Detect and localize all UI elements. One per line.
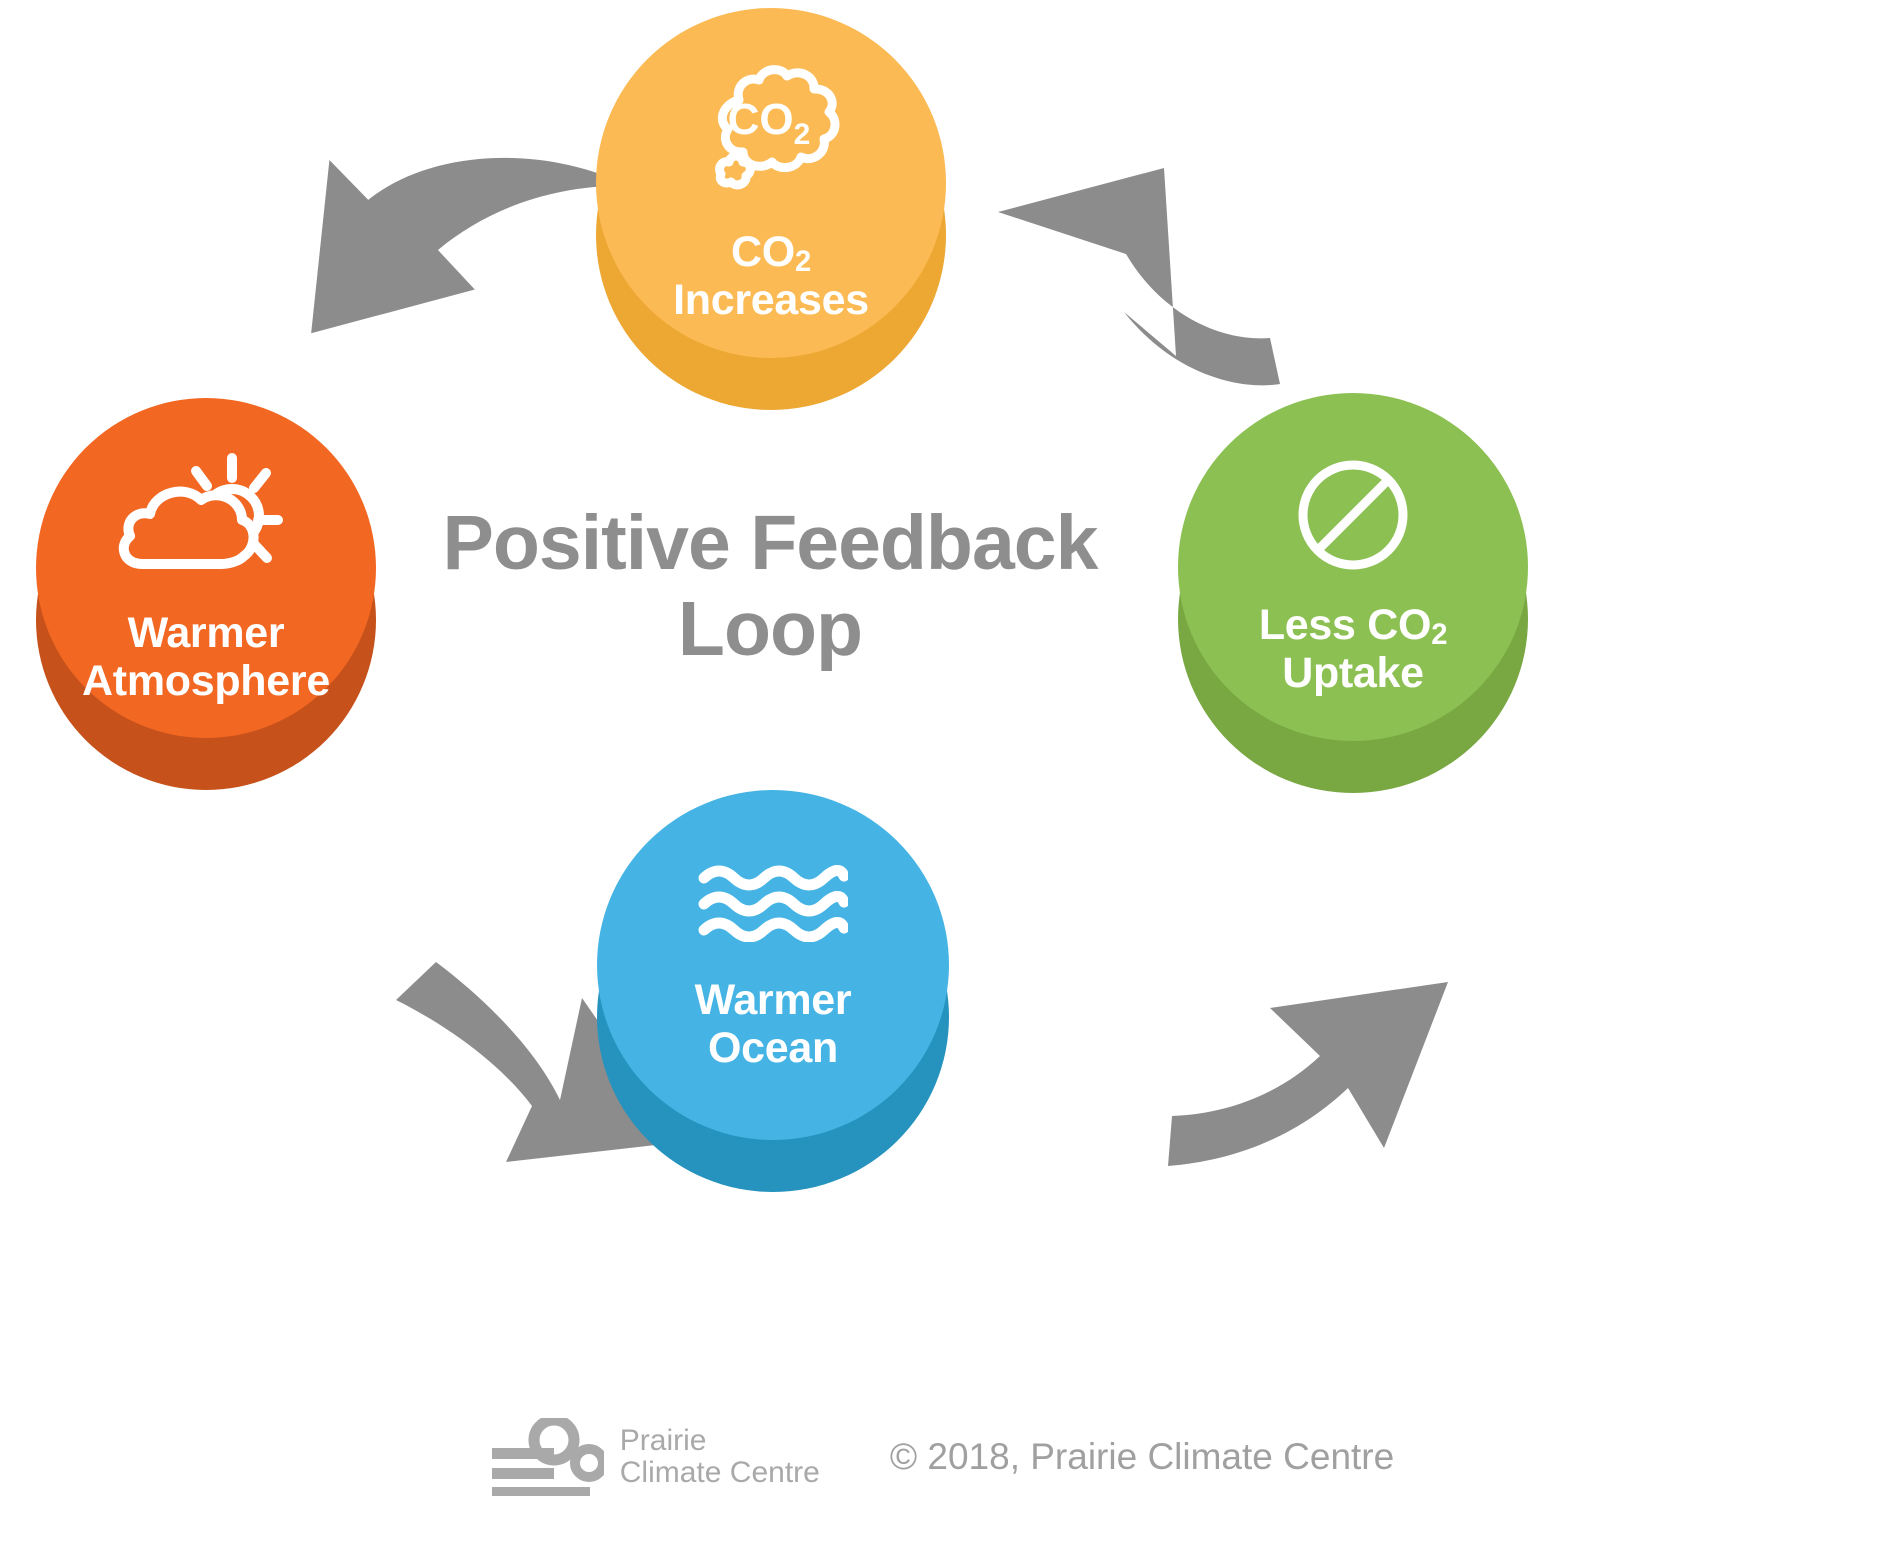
- diagram-title-line2: Loop: [420, 586, 1120, 672]
- co2-cloud-icon: CO2: [681, 52, 861, 212]
- prairie-climate-centre-brand: Prairie Climate Centre: [492, 1418, 820, 1496]
- footer: Prairie Climate Centre © 2018, Prairie C…: [0, 1418, 1886, 1496]
- uptake-label-line2: Uptake: [1259, 649, 1447, 697]
- atmosphere-label-line1: Warmer: [82, 609, 330, 657]
- brand-line2: Climate Centre: [620, 1457, 820, 1489]
- co2-label-line1: CO: [731, 228, 795, 276]
- sun-behind-cloud-icon: [106, 448, 306, 593]
- node-label-less-co2-uptake: Less CO2 Uptake: [1259, 601, 1447, 697]
- co2-coin-face: CO2 CO2 Increases: [596, 8, 946, 358]
- node-label-warmer-atmosphere: Warmer Atmosphere: [82, 609, 330, 705]
- prairie-climate-centre-logo-icon: [492, 1418, 604, 1496]
- arrow-less-uptake-to-co2: [980, 152, 1280, 402]
- atmosphere-coin: Warmer Atmosphere: [36, 398, 376, 790]
- arrow-co2-to-warmer-atmosphere: [286, 140, 616, 390]
- diagram-title: Positive Feedback Loop: [420, 500, 1120, 672]
- node-label-co2-increases: CO2 Increases: [673, 228, 869, 324]
- node-co2-increases[interactable]: CO2 CO2 Increases: [596, 8, 946, 410]
- prohibited-icon: [1293, 455, 1413, 575]
- ocean-coin: Warmer Ocean: [597, 790, 949, 1192]
- node-label-warmer-ocean: Warmer Ocean: [695, 976, 852, 1072]
- node-warmer-ocean[interactable]: Warmer Ocean: [597, 790, 949, 1192]
- uptake-label-line1: Less CO: [1259, 601, 1431, 649]
- uptake-label-sub: 2: [1431, 619, 1447, 651]
- ocean-waves-icon: [698, 862, 848, 942]
- node-less-co2-uptake[interactable]: Less CO2 Uptake: [1178, 393, 1528, 793]
- co2-coin: CO2 CO2 Increases: [596, 8, 946, 410]
- co2-label-line2: Increases: [673, 276, 869, 324]
- brand-text: Prairie Climate Centre: [620, 1425, 820, 1490]
- co2-icon-text: CO2: [728, 95, 811, 151]
- atmosphere-label-line2: Atmosphere: [82, 657, 330, 705]
- ocean-label-line1: Warmer: [695, 976, 852, 1024]
- ocean-label-line2: Ocean: [695, 1024, 852, 1072]
- node-warmer-atmosphere[interactable]: Warmer Atmosphere: [36, 398, 376, 790]
- arrow-warmer-ocean-to-less-uptake: [1152, 952, 1482, 1182]
- copyright-text: © 2018, Prairie Climate Centre: [890, 1436, 1394, 1478]
- diagram-canvas: Positive Feedback Loop CO2 CO2 Increases: [0, 0, 1886, 1541]
- co2-label-sub: 2: [795, 246, 811, 278]
- atmosphere-coin-face: Warmer Atmosphere: [36, 398, 376, 738]
- diagram-title-line1: Positive Feedback: [420, 500, 1120, 586]
- ocean-coin-face: Warmer Ocean: [597, 790, 949, 1140]
- uptake-coin: Less CO2 Uptake: [1178, 393, 1528, 793]
- brand-line1: Prairie: [620, 1425, 820, 1457]
- uptake-coin-face: Less CO2 Uptake: [1178, 393, 1528, 741]
